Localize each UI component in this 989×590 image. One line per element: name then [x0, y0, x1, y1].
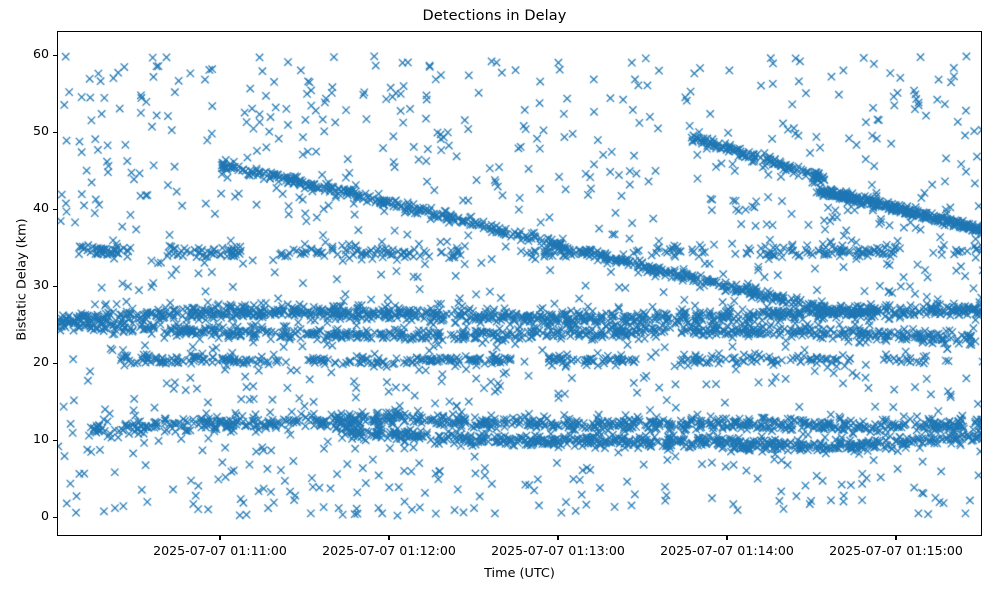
y-axis-label: Bistatic Delay (km)	[15, 20, 30, 540]
y-tick-mark	[53, 132, 57, 133]
y-tick-label: 40	[33, 200, 49, 215]
y-tick-label: 0	[41, 508, 49, 523]
y-tick-mark	[53, 517, 57, 518]
x-tick-label: 2025-07-07 01:13:00	[491, 543, 625, 558]
matplotlib-figure: Detections in Delay 0102030405060 2025-0…	[0, 0, 989, 590]
x-tick-mark	[388, 536, 389, 540]
x-tick-label: 2025-07-07 01:12:00	[322, 543, 456, 558]
x-tick-label: 2025-07-07 01:15:00	[829, 543, 963, 558]
x-tick-mark	[895, 536, 896, 540]
y-tick-label: 50	[33, 123, 49, 138]
x-tick-mark	[219, 536, 220, 540]
x-tick-label: 2025-07-07 01:11:00	[153, 543, 287, 558]
y-tick-mark	[53, 55, 57, 56]
y-tick-mark	[53, 440, 57, 441]
y-tick-mark	[53, 286, 57, 287]
y-tick-label: 30	[33, 277, 49, 292]
x-tick-label: 2025-07-07 01:14:00	[660, 543, 794, 558]
y-tick-label: 20	[33, 354, 49, 369]
y-tick-mark	[53, 209, 57, 210]
x-tick-mark	[726, 536, 727, 540]
plot-area	[57, 31, 982, 536]
x-tick-mark	[557, 536, 558, 540]
page-title: Detections in Delay	[0, 8, 989, 24]
y-tick-mark	[53, 363, 57, 364]
x-axis-label: Time (UTC)	[57, 566, 982, 581]
y-tick-label: 10	[33, 431, 49, 446]
scatter-plot-canvas	[58, 32, 982, 536]
y-tick-label: 60	[33, 46, 49, 61]
